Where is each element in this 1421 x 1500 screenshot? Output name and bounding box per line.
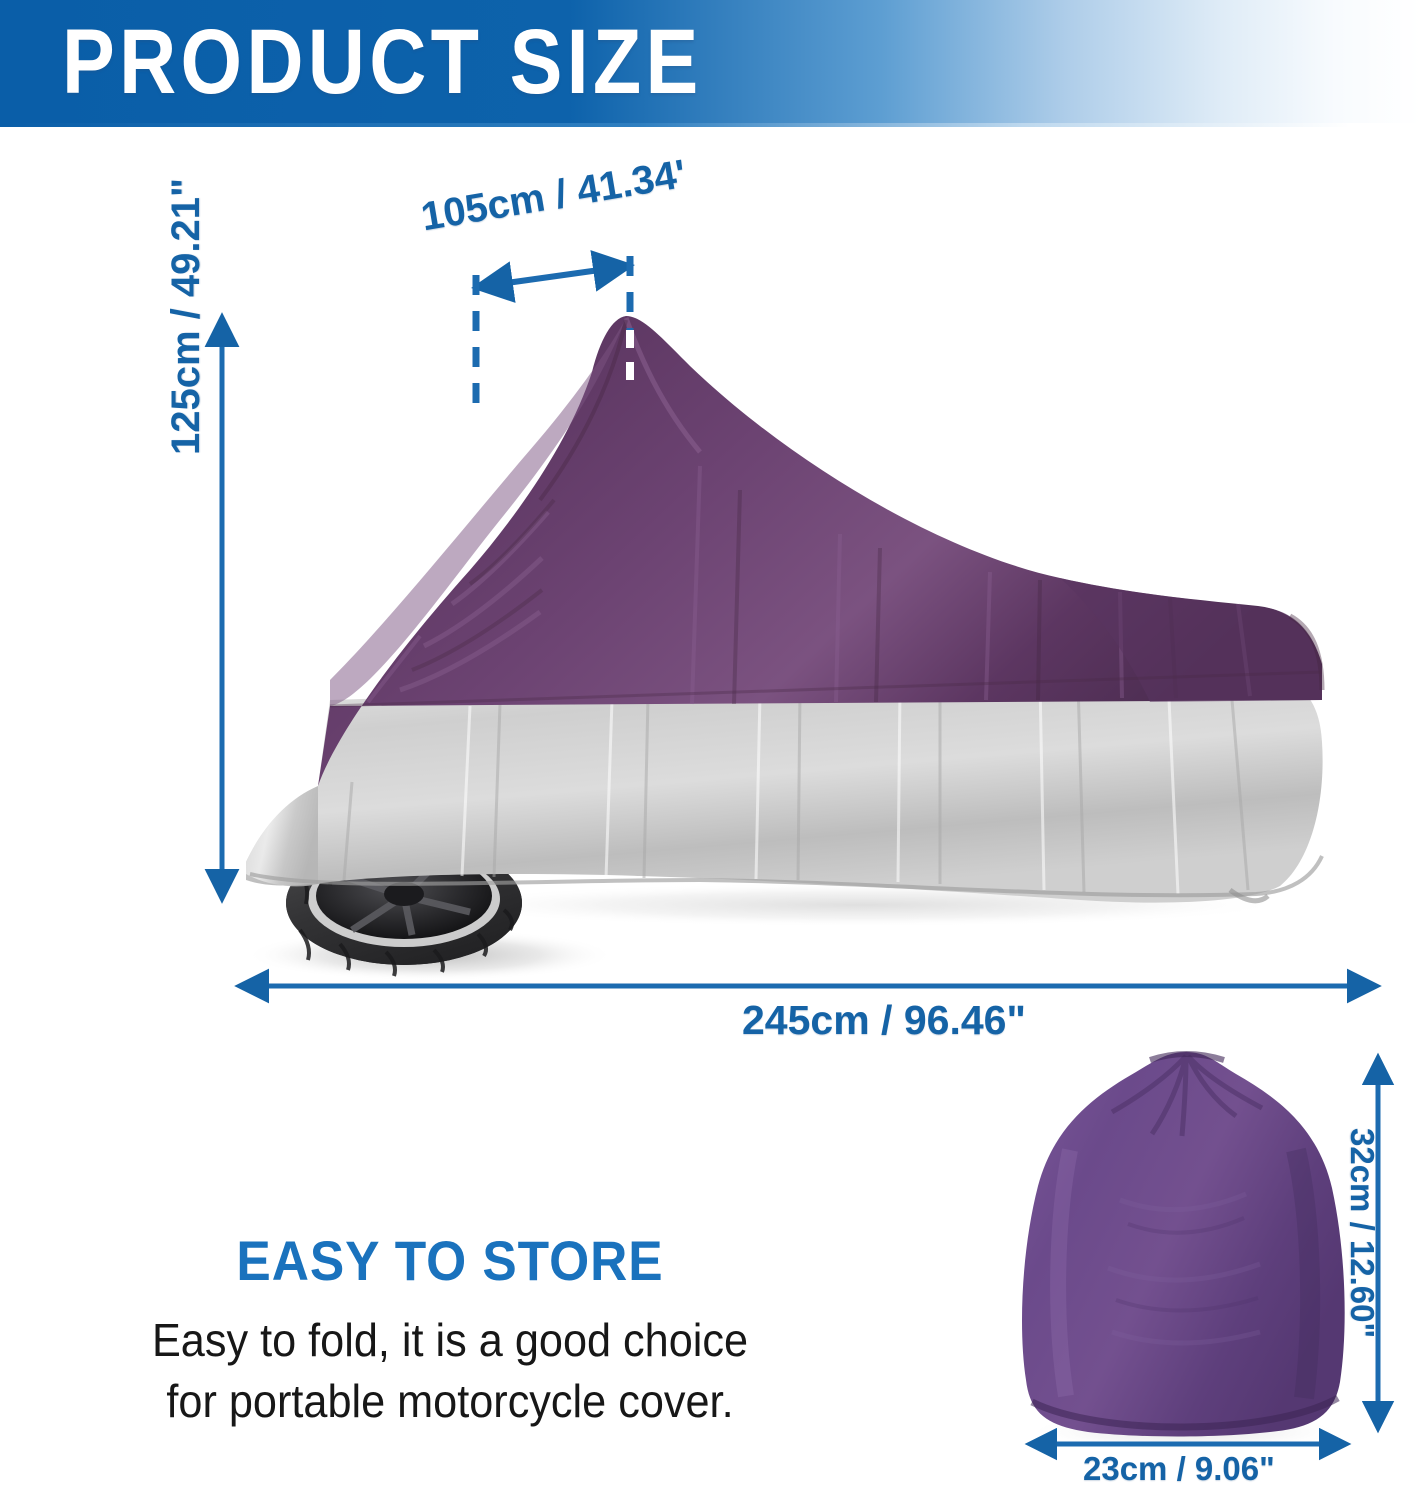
height-label: 125cm / 49.21" <box>164 178 209 455</box>
cover-lower-silver <box>246 672 1323 903</box>
feature-description-line-1: Easy to fold, it is a good choice <box>27 1310 873 1371</box>
length-label: 245cm / 96.46" <box>742 997 1026 1044</box>
top-width-label: 105cm / 41.34' <box>418 152 689 241</box>
bag-height-label: 32cm / 12.60" <box>1343 1128 1381 1338</box>
top-width-dimension-line <box>478 266 628 287</box>
cover-upper-purple <box>318 316 1322 786</box>
header-banner: PRODUCT SIZE <box>0 0 1421 123</box>
feature-description-line-2: for portable motorcycle cover. <box>27 1371 873 1432</box>
storage-bag <box>1022 1052 1345 1452</box>
page-title: PRODUCT SIZE <box>62 16 703 108</box>
feature-title: EASY TO STORE <box>36 1228 864 1293</box>
product-size-infographic: PRODUCT SIZE <box>0 0 1421 1500</box>
feature-description: Easy to fold, it is a good choice for po… <box>27 1310 873 1432</box>
header-underline <box>0 123 1421 127</box>
front-wheel <box>286 836 522 976</box>
bag-width-label: 23cm / 9.06" <box>1083 1450 1275 1488</box>
